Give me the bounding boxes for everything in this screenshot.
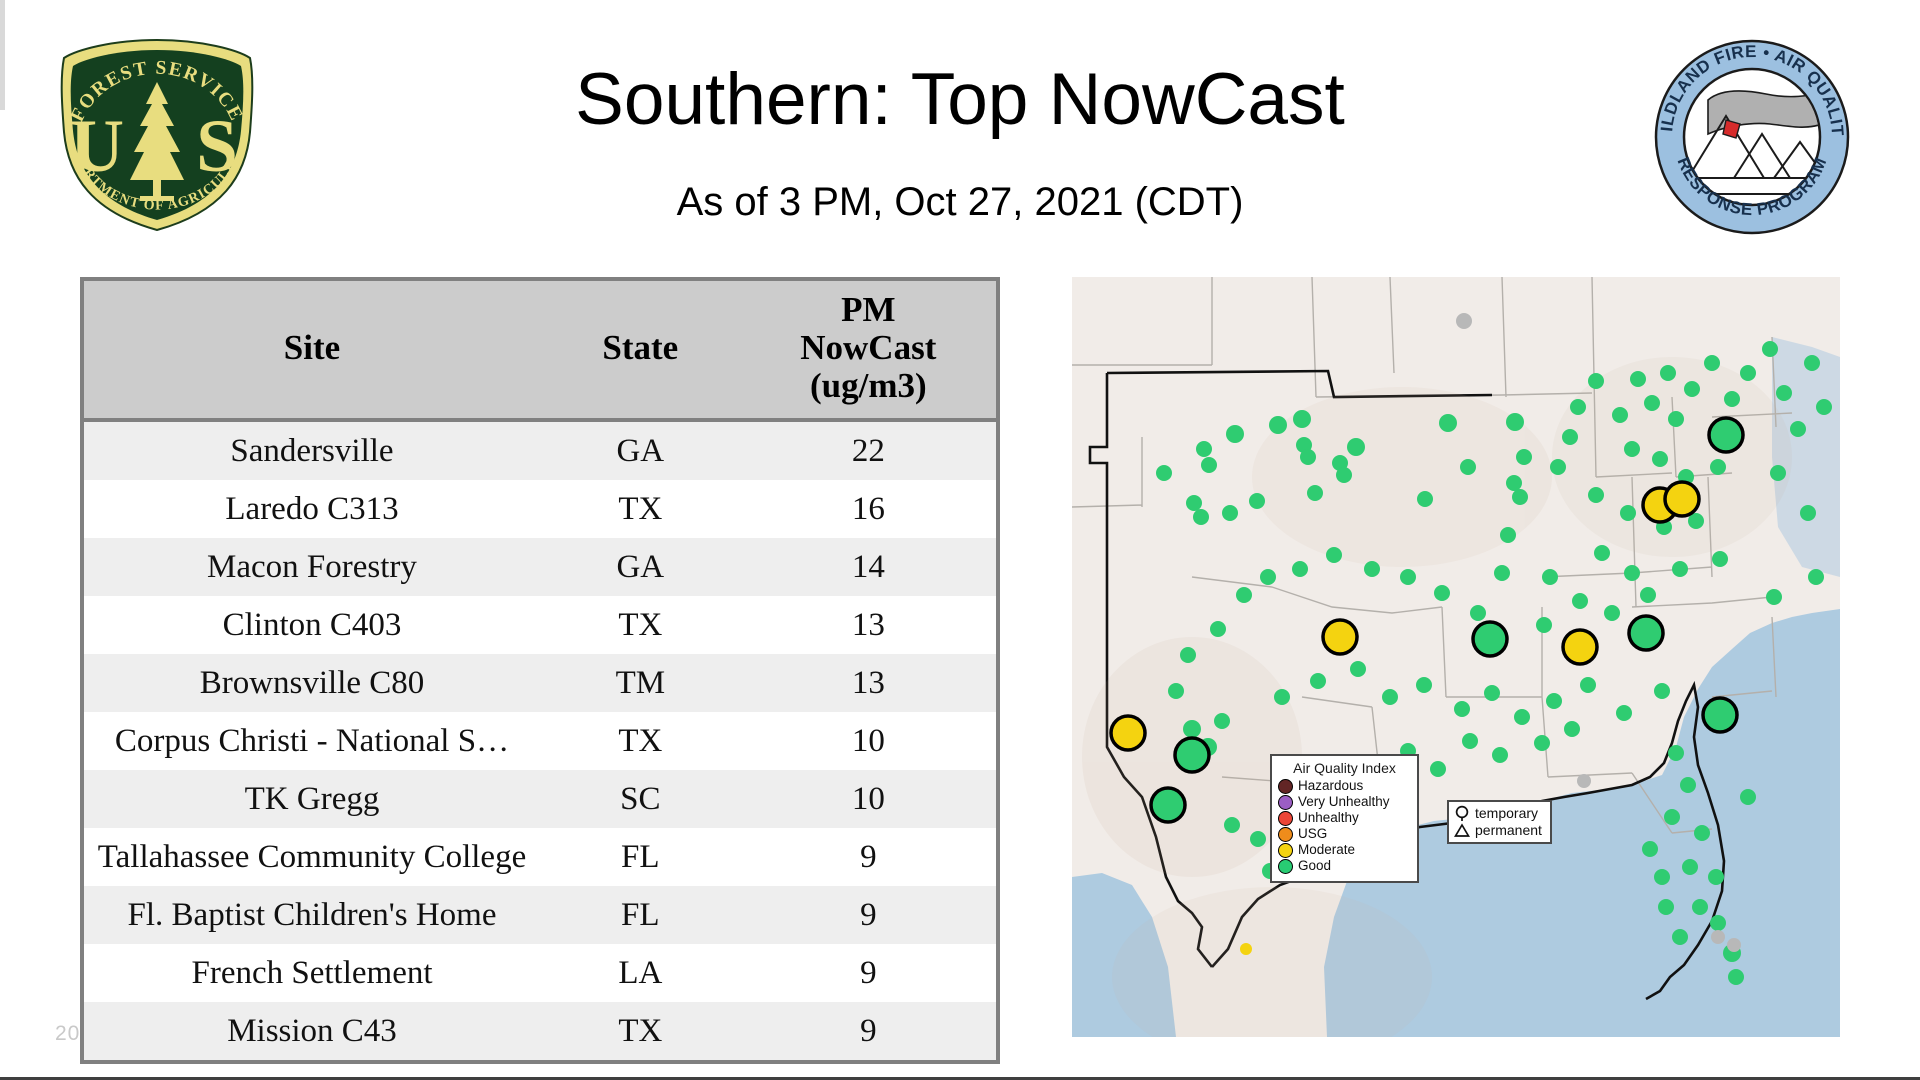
cell-state: FL: [540, 828, 741, 886]
cell-site: Fl. Baptist Children's Home: [84, 886, 540, 944]
table-row[interactable]: Mission C43TX9: [84, 1002, 996, 1060]
aqi-legend-item: Hazardous: [1278, 779, 1411, 794]
pm-header-line2: NowCast: [741, 329, 996, 367]
cell-pm-nowcast: 14: [741, 538, 996, 596]
cell-pm-nowcast: 9: [741, 1002, 996, 1060]
legend-permanent-row: permanent: [1454, 822, 1542, 838]
left-edge-strip: [0, 0, 5, 110]
cell-state: TX: [540, 480, 741, 538]
cell-site: French Settlement: [84, 944, 540, 1002]
aqi-legend-label: Good: [1298, 859, 1331, 873]
cell-pm-nowcast: 9: [741, 944, 996, 1002]
cell-state: TM: [540, 654, 741, 712]
red-flag-icon: [1723, 120, 1740, 138]
table-header-row: Site State PM NowCast (ug/m3): [84, 281, 996, 420]
highlight-macon-forestry: [1665, 482, 1699, 516]
cell-pm-nowcast: 10: [741, 770, 996, 828]
aqi-legend-dot-icon: [1278, 859, 1293, 874]
cell-state: TX: [540, 596, 741, 654]
cell-site: Clinton C403: [84, 596, 540, 654]
temporary-circle-icon: [1454, 805, 1470, 822]
cell-site: Sandersville: [84, 420, 540, 480]
usfs-shield-logo: FOREST SERVICE DEPARTMENT OF AGRICULTURE…: [52, 36, 262, 234]
cell-state: TX: [540, 1002, 741, 1060]
highlight-corpus-christi: [1175, 738, 1209, 772]
aqi-legend-label: Hazardous: [1298, 779, 1363, 793]
permanent-triangle-icon: [1454, 823, 1470, 838]
legend-temporary-label: temporary: [1475, 805, 1538, 821]
highlight-fl-baptist-childrens-home: [1629, 616, 1663, 650]
aqi-legend-dot-icon: [1278, 843, 1293, 858]
table-row[interactable]: Tallahassee Community CollegeFL9: [84, 828, 996, 886]
highlight-clinton-c403: [1703, 698, 1737, 732]
usfs-letter-u: U: [70, 105, 124, 188]
pm-header-line1: PM: [741, 291, 996, 329]
table-row[interactable]: Corpus Christi - National S…TX10: [84, 712, 996, 770]
column-header-site[interactable]: Site: [84, 281, 540, 420]
cell-site: TK Gregg: [84, 770, 540, 828]
aqi-legend-dot-icon: [1278, 779, 1293, 794]
cell-state: TX: [540, 712, 741, 770]
cell-state: GA: [540, 420, 741, 480]
table-row[interactable]: Clinton C403TX13: [84, 596, 996, 654]
aqi-legend-item: Very Unhealthy: [1278, 795, 1411, 810]
cell-pm-nowcast: 9: [741, 886, 996, 944]
map-canvas: [1072, 277, 1840, 1037]
monitor-dot-moderate-small: [1240, 943, 1252, 955]
southern-region-aqi-map[interactable]: [1072, 277, 1840, 1037]
highlight-mission-c43: [1151, 788, 1185, 822]
table-row[interactable]: SandersvilleGA22: [84, 420, 996, 480]
cell-site: Brownsville C80: [84, 654, 540, 712]
slide-canvas: FOREST SERVICE DEPARTMENT OF AGRICULTURE…: [0, 0, 1920, 1080]
aqi-legend-label: Unhealthy: [1298, 811, 1359, 825]
cell-site: Macon Forestry: [84, 538, 540, 596]
aqi-legend-label: Moderate: [1298, 843, 1355, 857]
legend-permanent-label: permanent: [1475, 822, 1542, 838]
aqi-legend-dot-icon: [1278, 795, 1293, 810]
cell-site: Corpus Christi - National S…: [84, 712, 540, 770]
aqi-legend-dot-icon: [1278, 811, 1293, 826]
aqi-legend-item: USG: [1278, 827, 1411, 842]
page-subtitle: As of 3 PM, Oct 27, 2021 (CDT): [330, 180, 1590, 225]
table-row[interactable]: Fl. Baptist Children's HomeFL9: [84, 886, 996, 944]
table-row[interactable]: TK GreggSC10: [84, 770, 996, 828]
aqi-legend: Air Quality Index HazardousVery Unhealth…: [1270, 754, 1419, 883]
cell-pm-nowcast: 13: [741, 596, 996, 654]
aqi-legend-dot-icon: [1278, 827, 1293, 842]
table-row[interactable]: French SettlementLA9: [84, 944, 996, 1002]
aqi-legend-label: USG: [1298, 827, 1327, 841]
aqi-legend-item: Good: [1278, 859, 1411, 874]
top-nowcast-table: Site State PM NowCast (ug/m3) Sandersvil…: [80, 277, 1000, 1064]
cell-site: Tallahassee Community College: [84, 828, 540, 886]
aqi-legend-title: Air Quality Index: [1278, 760, 1411, 776]
page-title: Southern: Top NowCast: [330, 58, 1590, 141]
table-row[interactable]: Brownsville C80TM13: [84, 654, 996, 712]
cell-site: Mission C43: [84, 1002, 540, 1060]
aqi-legend-label: Very Unhealthy: [1298, 795, 1390, 809]
column-header-state[interactable]: State: [540, 281, 741, 420]
cell-state: SC: [540, 770, 741, 828]
column-header-pm-nowcast[interactable]: PM NowCast (ug/m3): [741, 281, 996, 420]
highlight-tk-gregg: [1709, 418, 1743, 452]
pm-header-line3: (ug/m3): [741, 367, 996, 405]
cell-state: FL: [540, 886, 741, 944]
legend-temporary-row: temporary: [1454, 805, 1542, 822]
cell-pm-nowcast: 9: [741, 828, 996, 886]
usfs-letter-s: S: [196, 105, 238, 188]
cell-pm-nowcast: 16: [741, 480, 996, 538]
highlight-laredo-c313: [1111, 716, 1145, 750]
cell-site: Laredo C313: [84, 480, 540, 538]
highlight-brownsville-c80: [1323, 620, 1357, 654]
highlight-french-settlement: [1473, 622, 1507, 656]
cell-pm-nowcast: 22: [741, 420, 996, 480]
cell-state: GA: [540, 538, 741, 596]
table-row[interactable]: Laredo C313TX16: [84, 480, 996, 538]
highlight-tallahassee-cc: [1563, 630, 1597, 664]
aqi-legend-item: Moderate: [1278, 843, 1411, 858]
cell-pm-nowcast: 13: [741, 654, 996, 712]
cell-state: LA: [540, 944, 741, 1002]
aqi-legend-item: Unhealthy: [1278, 811, 1411, 826]
wfaq-response-program-logo: WILDLAND FIRE • AIR QUALITY RESPONSE PRO…: [1650, 38, 1855, 236]
cell-pm-nowcast: 10: [741, 712, 996, 770]
site-type-legend: temporary permanent: [1447, 800, 1552, 844]
table-row[interactable]: Macon ForestryGA14: [84, 538, 996, 596]
